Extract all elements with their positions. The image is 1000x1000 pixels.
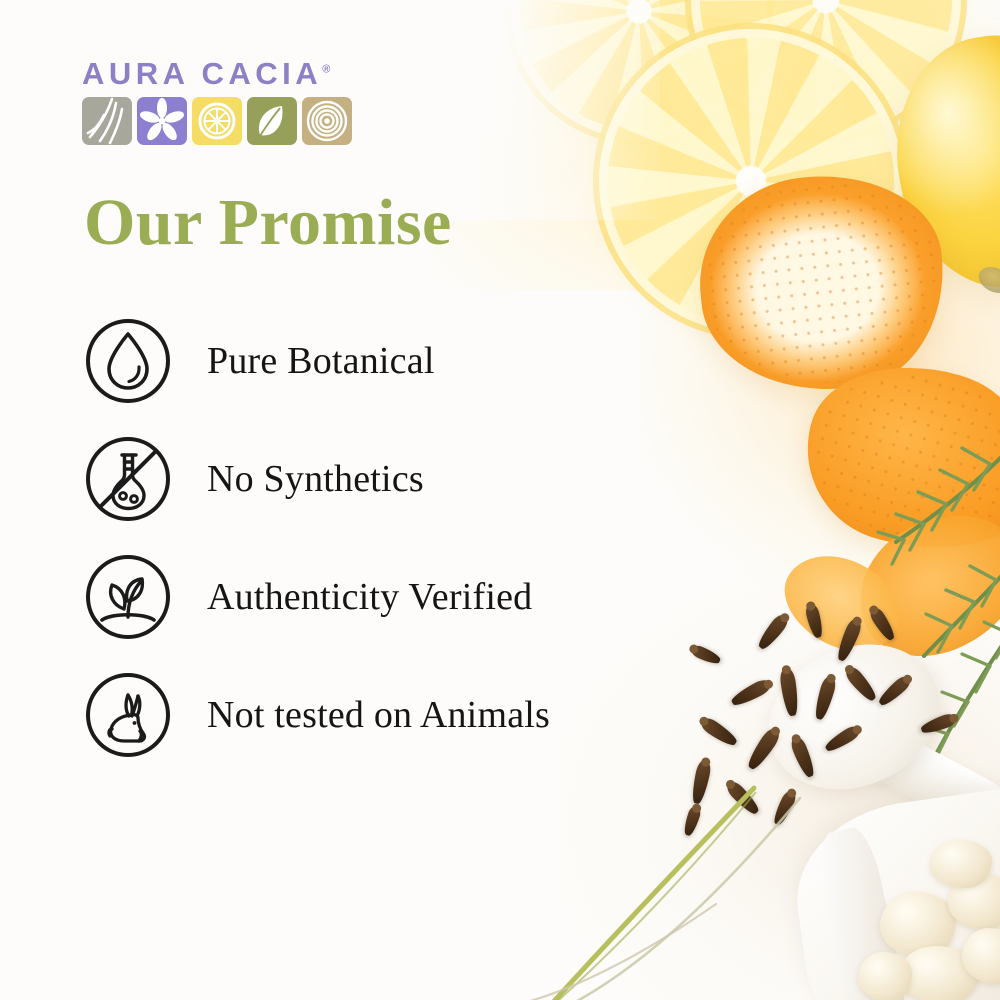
- brand-icon-tiles: [82, 97, 358, 145]
- clove: [682, 805, 703, 837]
- clove: [779, 667, 801, 717]
- frankincense-resin: [948, 872, 1000, 930]
- clove: [789, 735, 818, 779]
- list-item: Not tested on Animals: [84, 656, 624, 774]
- promise-graphic: AURA CACIA®: [0, 0, 1000, 1000]
- cloth-fold: [808, 824, 909, 1000]
- lemon-slice: [598, 28, 903, 333]
- sprout-seedling-icon: [84, 553, 172, 641]
- concentric-rings-icon: [302, 97, 352, 145]
- clove: [919, 712, 957, 737]
- rabbit-icon: [84, 671, 172, 759]
- orange-peel: [769, 536, 916, 670]
- clove: [804, 603, 825, 639]
- whole-lemon: [879, 22, 1000, 302]
- clove: [755, 612, 791, 652]
- leaf-icon: [247, 97, 297, 145]
- frankincense-resin: [930, 840, 992, 888]
- clove: [867, 605, 897, 642]
- white-cloth-bag: [785, 783, 1000, 1000]
- list-item-label: No Synthetics: [207, 457, 424, 501]
- clove: [771, 789, 798, 827]
- clove: [690, 759, 713, 805]
- aura-cacia-logo[interactable]: AURA CACIA®: [82, 58, 358, 145]
- clove: [699, 715, 740, 749]
- no-synthetics-flask-icon: [84, 435, 172, 523]
- clove: [812, 675, 838, 721]
- leaf-tile: [247, 97, 297, 145]
- promise-list: Pure Botanical: [84, 302, 624, 774]
- frankincense-resin: [898, 946, 980, 1000]
- list-item-label: Pure Botanical: [207, 339, 435, 383]
- rosemary-sprig: [840, 430, 1000, 680]
- citrus-slice-icon: [192, 97, 242, 145]
- list-item-label: Not tested on Animals: [207, 693, 550, 737]
- clove: [724, 779, 762, 817]
- brand-wordmark-text: AURA CACIA: [82, 56, 322, 91]
- brand-wordmark: AURA CACIA®: [82, 58, 358, 89]
- clove: [729, 677, 773, 709]
- warm-bottom-wash: [560, 560, 1000, 1000]
- list-item-label: Authenticity Verified: [207, 575, 532, 619]
- flower-icon: [137, 97, 187, 145]
- orange-peel: [838, 493, 1000, 677]
- lemon-stem-tip: [975, 262, 1000, 298]
- frankincense-resin: [880, 892, 956, 958]
- wood-rings-tile: [302, 97, 352, 145]
- ceramic-spoon-handle: [806, 696, 1000, 841]
- clove: [834, 617, 863, 663]
- promise-panel: AURA CACIA®: [0, 0, 620, 1000]
- clove: [843, 664, 879, 704]
- orange-glow-wash: [640, 120, 1000, 600]
- water-droplet-icon: [84, 317, 172, 405]
- flower-tile: [137, 97, 187, 145]
- list-item: Pure Botanical: [84, 302, 624, 420]
- rosemary-sprig: [900, 600, 1000, 800]
- clove: [876, 673, 913, 708]
- page-title: Our Promise: [84, 190, 452, 256]
- roots-icon: [82, 97, 132, 145]
- clove: [690, 643, 722, 666]
- lemon-slice: [673, 0, 978, 153]
- registered-trademark-icon: ®: [322, 64, 330, 76]
- frankincense-resin: [858, 952, 912, 1000]
- roots-tile: [82, 97, 132, 145]
- frankincense-resin: [962, 928, 1000, 984]
- orange-peel: [786, 340, 1000, 577]
- clove: [744, 726, 782, 773]
- ceramic-spoon-bowl: [746, 618, 963, 816]
- clove: [823, 723, 862, 754]
- list-item: No Synthetics: [84, 420, 624, 538]
- citrus-tile: [192, 97, 242, 145]
- orange-peel: [689, 164, 954, 402]
- list-item: Authenticity Verified: [84, 538, 624, 656]
